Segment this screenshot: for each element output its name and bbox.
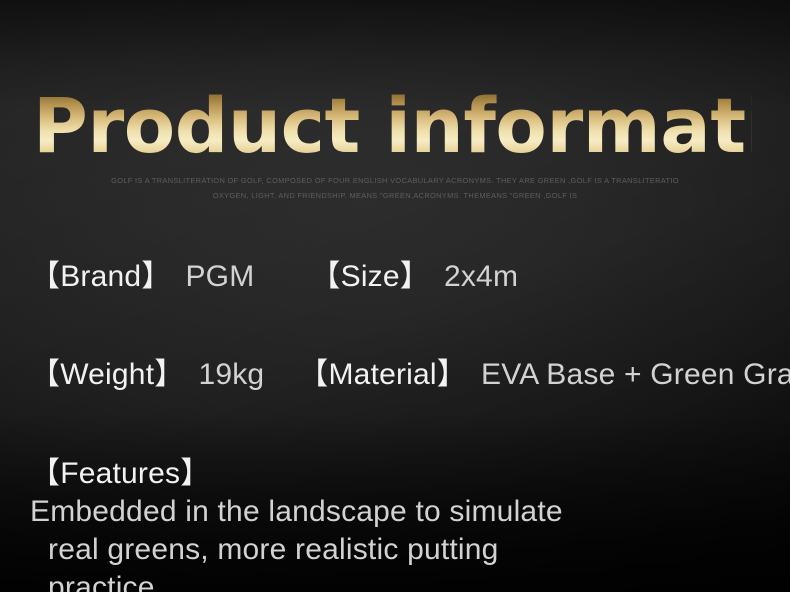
features-value-line-2: real greens, more realistic putting prac… (30, 531, 610, 592)
page-title: Product information (33, 86, 752, 166)
material-value: EVA Base + Green Grass (481, 358, 790, 391)
subcaption-line-1: GOLF IS A TRANSLITERATION OF GOLF, COMPO… (0, 174, 790, 189)
brand-label: 【Brand】 (30, 260, 171, 293)
spec-row-brand-size: 【Brand】PGM【Size】2x4m (30, 258, 772, 296)
features-value: Embedded in the landscape to simulaterea… (30, 493, 610, 592)
weight-label: 【Weight】 (30, 358, 184, 391)
slide-content: Product information GOLF IS A TRANSLITER… (0, 0, 790, 592)
spec-row-features: 【Features】Embedded in the landscape to s… (30, 455, 772, 592)
brand-value: PGM (185, 260, 254, 293)
spec-row-weight-material: 【Weight】19kg【Material】EVA Base + Green G… (30, 356, 772, 394)
features-label: 【Features】 (30, 457, 210, 490)
subcaption-line-2: OXYGEN, LIGHT, AND FRIENDSHIP. MEANS "GR… (0, 189, 790, 204)
size-value: 2x4m (444, 260, 518, 293)
material-label: 【Material】 (298, 358, 467, 391)
product-information-slide: Product information GOLF IS A TRANSLITER… (0, 0, 790, 592)
features-value-line-1: Embedded in the landscape to simulate (30, 495, 563, 528)
subcaption-block: GOLF IS A TRANSLITERATION OF GOLF, COMPO… (0, 174, 790, 203)
size-label: 【Size】 (310, 260, 430, 293)
weight-value: 19kg (198, 358, 264, 391)
